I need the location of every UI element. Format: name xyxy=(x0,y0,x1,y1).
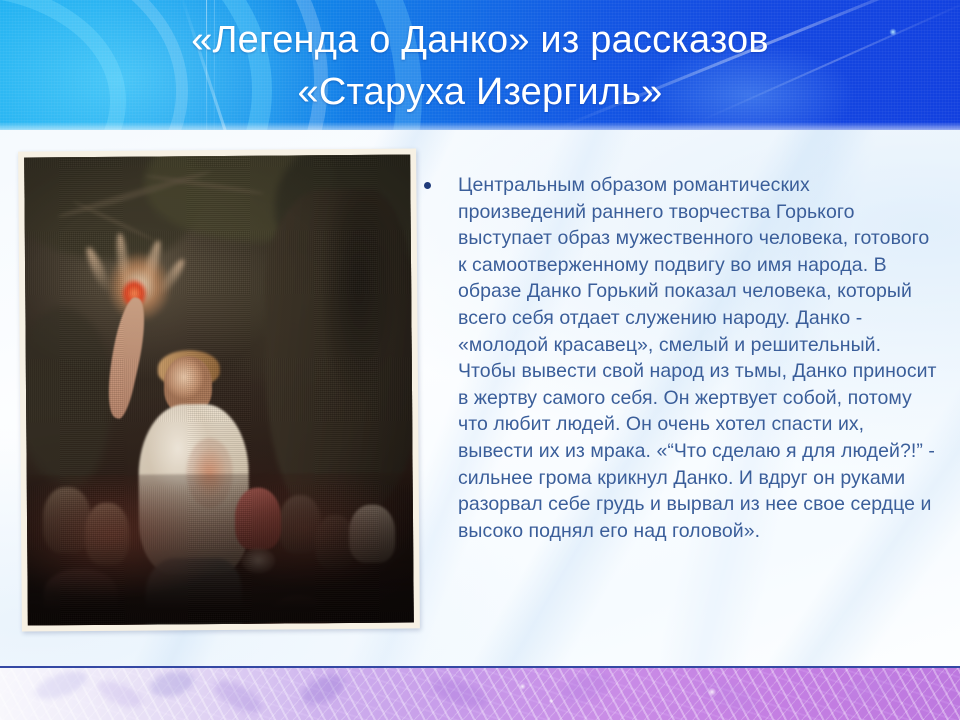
slide: «Легенда о Данко» из рассказов «Старуха … xyxy=(0,0,960,720)
illustration-frame xyxy=(18,148,420,631)
illustration xyxy=(18,148,420,631)
bullet-list-item: Центральным образом романтических произв… xyxy=(418,172,942,544)
bullet-point-icon xyxy=(424,182,431,189)
footer-band xyxy=(0,666,960,720)
illustration-canvas xyxy=(24,154,414,625)
painting-vignette xyxy=(24,154,414,625)
page-title: «Легенда о Данко» из рассказов «Старуха … xyxy=(0,14,960,118)
footer-highlight-2 xyxy=(548,698,554,704)
footer-highlight-1 xyxy=(518,682,527,691)
content-body: Центральным образом романтических произв… xyxy=(418,172,942,544)
body-paragraph: Центральным образом романтических произв… xyxy=(458,172,942,544)
footer-left-wash xyxy=(0,668,330,720)
header-bottom-fade xyxy=(0,122,960,130)
footer-highlight-3 xyxy=(706,686,718,698)
